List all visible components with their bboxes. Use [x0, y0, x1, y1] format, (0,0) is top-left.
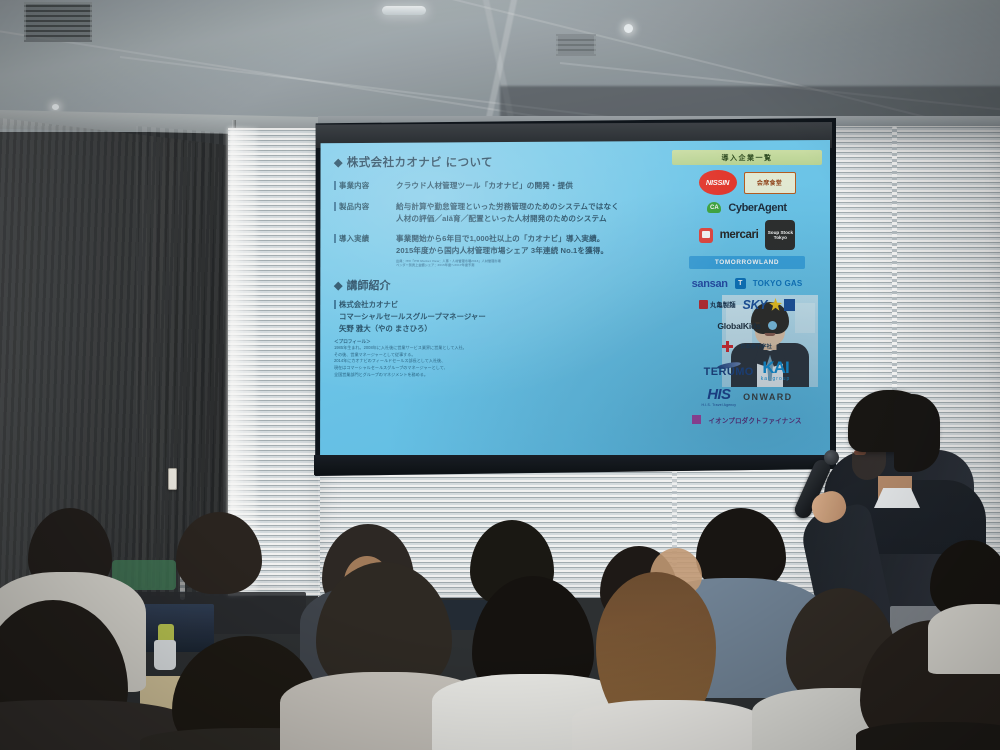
microphone-head-icon: [824, 450, 839, 465]
logo-sky: SKY: [743, 298, 796, 312]
row-line: クラウド人材管理ツール「カオナビ」の開発・提供: [396, 180, 573, 192]
ceiling-downlight: [624, 24, 633, 33]
logo-sansan: sansan: [692, 278, 728, 290]
logo-row: イオンプロダクトファイナンス: [672, 411, 822, 428]
ceiling-vent: [24, 2, 92, 42]
tick-marker-icon: [334, 234, 336, 243]
logo-kai-group: KAI kai group: [761, 359, 791, 382]
tokyo-gas-mark-icon: T: [735, 278, 746, 289]
tick-marker-icon: [334, 202, 336, 211]
row-line: 人材の評価／ală育／配置といった人材開発のためのシステム: [396, 213, 619, 225]
ceiling: [0, 0, 1000, 132]
row-line: 2015年度から国内人材管理市場シェア 3年連続 No.1を獲得。: [396, 245, 608, 257]
logo-text: 会席食堂: [757, 178, 782, 187]
projected-slide: ◆ 株式会社カオナビ について 事業内容 クラウド人材管理ツール「カオナビ」の開…: [318, 140, 830, 460]
mercari-mark-icon: [699, 228, 713, 243]
logo-tomorrowland: TOMORROWLAND: [689, 256, 805, 269]
logo-terumo: TERUMO: [704, 363, 754, 378]
logo-row: TERUMO KAI kai group: [672, 359, 822, 382]
cyberagent-mark-icon: CA: [707, 202, 721, 213]
attendee-torso: [928, 604, 1000, 674]
row-body-product: 給与計算や勤怠管理といった労務管理のためのシステムではなく 人材の評価／ală育…: [396, 201, 619, 225]
logo-soup-stock-tokyo: Soup Stock Tokyo: [765, 220, 795, 250]
logo-globalkids: GlobalKids: [717, 321, 760, 331]
logo-row: mercari Soup Stock Tokyo: [672, 220, 822, 250]
logo-row: sansan T TOKYO GAS: [672, 275, 822, 292]
logo-tokyo-gas: TOKYO GAS: [753, 279, 803, 288]
row-line: 事業開始から6年目で1,000社以上の「カオナビ」導入実績。: [396, 233, 608, 245]
profile-line: 全国営業部門とグループのマネジメントを務める。: [334, 372, 714, 379]
water-bottle[interactable]: [154, 640, 176, 670]
logo-row: NISSIN 会席食堂: [672, 170, 822, 195]
logo-text: TERUMO: [704, 366, 754, 378]
sky-block-icon: [784, 299, 795, 311]
diamond-bullet-icon: ◆: [334, 156, 343, 169]
sky-star-icon: [769, 298, 782, 311]
logo-row: TOMORROWLAND: [672, 254, 822, 271]
speaker-role: コマーシャルセールスグループマネージャー: [339, 311, 486, 323]
logo-kaisekishokudo: 会席食堂: [744, 172, 796, 194]
logo-onward: ONWARD: [743, 392, 792, 402]
footnote-line: ベンダー別売上金額シェア：2015年度～2017年度予測: [396, 263, 608, 268]
presenter-hair-back: [894, 394, 940, 472]
logo-row: HIS H.I.S. Travel Agency ONWARD: [672, 386, 822, 407]
row-footnote: 出典：ITR「ITR Market View：人事・人材管理市場2018」人材管…: [396, 259, 608, 268]
row-label-adoption: 導入実績: [334, 233, 386, 244]
row-label-business: 事業内容: [334, 180, 386, 191]
logo-japanese-red-cross: 日本赤十字社: [740, 343, 772, 350]
logo-mercari: mercari: [720, 229, 759, 241]
light-switch[interactable]: [168, 468, 177, 490]
speaker-name: 矢野 雅大（やの まさひろ）: [339, 323, 486, 335]
ceiling-light-fixture: [382, 6, 426, 15]
logo-his: HIS H.I.S. Travel Agency: [701, 386, 736, 407]
logo-panel-title: 導入企業一覧: [672, 150, 822, 165]
aeon-mark-icon: [692, 415, 701, 424]
tick-marker-icon: [334, 300, 336, 309]
profile-line: 現在はコマーシャルセールスグループのマネージャーとして、: [334, 365, 714, 372]
client-logo-panel: 導入企業一覧 NISSIN 会席食堂 CA CyberAgent: [672, 150, 822, 454]
speaker-details: 株式会社カオナビ コマーシャルセールスグループマネージャー 矢野 雅大（やの ま…: [334, 299, 714, 387]
logo-text: 丸亀製麺: [710, 300, 736, 309]
logo-nissin: NISSIN: [699, 170, 737, 195]
logo-text: KAI: [762, 359, 788, 376]
globalkids-dot-icon: [768, 321, 777, 330]
row-label-text: 製品内容: [339, 201, 369, 212]
logo-subtext: kai group: [761, 376, 791, 382]
profile-line: 2014年にカオナビのフィールドセールス部長として入社後、: [334, 358, 714, 365]
conference-room-photo: ◆ 株式会社カオナビ について 事業内容 クラウド人材管理ツール「カオナビ」の開…: [0, 0, 1000, 750]
logo-row: 丸亀製麺 SKY: [672, 296, 822, 313]
row-label-product: 製品内容: [334, 201, 386, 212]
logo-subtext: H.I.S. Travel Agency: [701, 403, 736, 407]
diamond-bullet-icon: ◆: [334, 279, 342, 292]
attendee-torso: [572, 700, 762, 750]
speaker-company: 株式会社カオナビ: [339, 299, 486, 311]
logo-row: 日本赤十字社: [672, 338, 822, 355]
slide-heading-text: 株式会社カオナビ について: [347, 154, 493, 170]
marugame-badge-icon: [699, 300, 708, 309]
logo-cyberagent: CyberAgent: [728, 202, 786, 214]
attendee-torso: [856, 722, 1000, 750]
logo-grid: NISSIN 会席食堂 CA CyberAgent mercari Soup S…: [672, 170, 822, 428]
tick-marker-icon: [334, 181, 336, 190]
row-label-text: 事業内容: [339, 180, 369, 191]
row-body-adoption: 事業開始から6年目で1,000社以上の「カオナビ」導入実績。 2015年度から国…: [396, 233, 608, 268]
logo-row: GlobalKids: [672, 317, 822, 334]
row-line: 給与計算や勤怠管理といった労務管理のためのシステムではなく: [396, 201, 619, 213]
logo-text: SKY: [743, 298, 768, 312]
profile-body: 1985年生まれ。2008年に入社後に営業サービス業界に営業として入社。 その後…: [334, 345, 714, 378]
ceiling-vent: [556, 34, 596, 56]
red-cross-icon: [722, 341, 733, 352]
row-label-text: 導入実績: [339, 233, 369, 244]
logo-text: HIS: [707, 386, 730, 403]
row-body-business: クラウド人材管理ツール「カオナビ」の開発・提供: [396, 180, 573, 192]
slide-heading-text: 講師紹介: [346, 277, 390, 293]
logo-marugame-seimen: 丸亀製麺: [699, 300, 736, 309]
profile-line: 1985年生まれ。2008年に入社後に営業サービス業界に営業として入社。: [334, 345, 714, 352]
ceiling-downlight: [52, 104, 59, 110]
logo-aeon-product-finance: イオンプロダクトファイナンス: [708, 415, 801, 425]
logo-row: CA CyberAgent: [672, 199, 822, 216]
